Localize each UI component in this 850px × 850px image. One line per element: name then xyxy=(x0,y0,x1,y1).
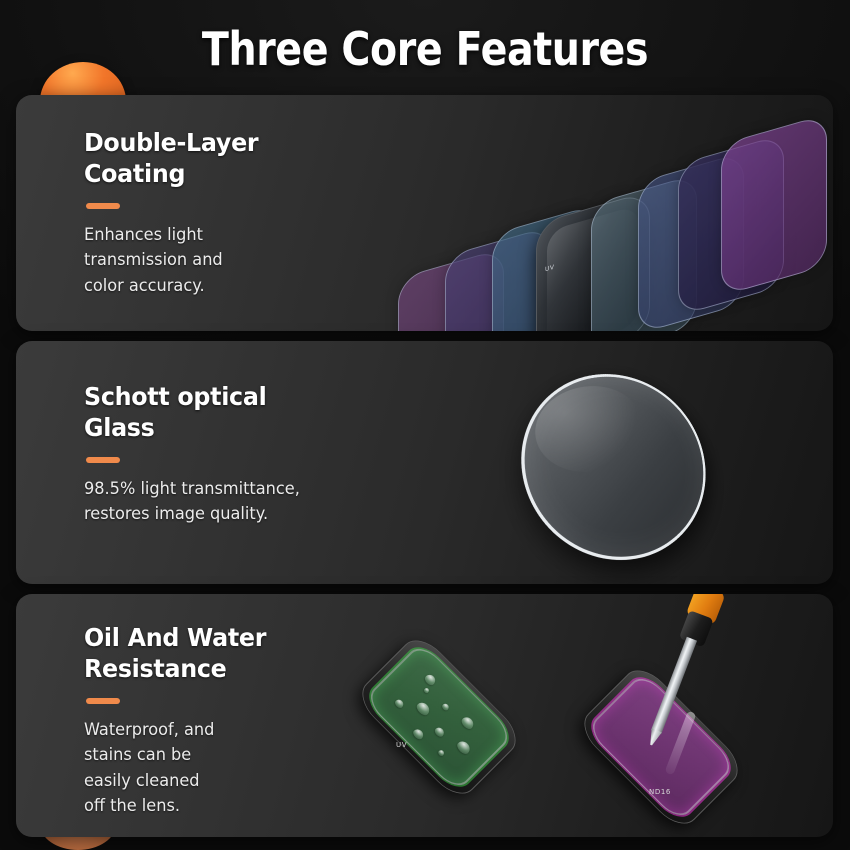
filter-layer-1 xyxy=(398,248,504,331)
water-droplet xyxy=(423,687,430,694)
glass-disc xyxy=(501,344,743,579)
screwdriver-tip xyxy=(646,728,662,747)
filter-layer-2 xyxy=(445,226,551,331)
filter-layer-6 xyxy=(678,134,784,316)
filter-label-uv: UV xyxy=(396,741,407,749)
filter-nd16-purple xyxy=(575,661,747,833)
feature-card-double-layer-coating[interactable]: UV Double-Layer Coating Enhances light t… xyxy=(16,95,833,331)
water-droplet xyxy=(433,726,446,739)
water-droplet xyxy=(441,702,450,711)
card-text-block: Schott optical Glass 98.5% light transmi… xyxy=(84,381,414,528)
card-heading: Oil And Water Resistance xyxy=(84,622,369,685)
card-text-block: Oil And Water Resistance Waterproof, and… xyxy=(84,622,384,820)
filter-label-nd16: ND16 xyxy=(649,788,671,796)
filter-glass-face xyxy=(585,671,736,822)
filter-layer-4 xyxy=(591,174,697,331)
wipe-streak xyxy=(664,711,696,776)
glass-disc-body xyxy=(496,363,730,584)
water-droplet xyxy=(415,700,432,717)
card-heading: Double-Layer Coating xyxy=(84,127,369,190)
water-droplet xyxy=(411,727,425,741)
poster-root: Three Core Features UV Double-Layer Coat… xyxy=(0,0,850,850)
card-body-text: Waterproof, and stains can be easily cle… xyxy=(84,718,369,820)
accent-divider xyxy=(86,203,120,209)
card-body-text: 98.5% light transmittance, restores imag… xyxy=(84,477,398,528)
filter-layer-7 xyxy=(721,114,827,296)
camera-lens-module xyxy=(536,191,650,331)
water-droplet xyxy=(460,715,476,731)
water-droplet xyxy=(455,739,472,756)
card-heading: Schott optical Glass xyxy=(84,381,398,444)
filter-frame xyxy=(575,661,747,833)
lens-module-label: UV xyxy=(545,264,555,274)
glass-disc-highlight xyxy=(523,378,654,487)
filter-layer-5 xyxy=(638,152,744,331)
feature-card-oil-and-water-resistance[interactable]: UV ND16 Oil And Water Resistance Waterpr… xyxy=(16,594,833,837)
accent-divider xyxy=(86,698,120,704)
filter-glass-face xyxy=(363,641,514,792)
screwdriver-collar xyxy=(679,610,714,647)
page-title: Three Core Features xyxy=(60,22,791,76)
screwdriver-shaft xyxy=(651,637,697,734)
card-body-text: Enhances light transmission and color ac… xyxy=(84,223,369,300)
water-droplet xyxy=(423,673,437,687)
accent-divider xyxy=(86,457,120,463)
water-droplet xyxy=(394,698,406,710)
screwdriver-handle xyxy=(686,594,726,626)
feature-card-schott-optical-glass[interactable]: Schott optical Glass 98.5% light transmi… xyxy=(16,341,833,584)
filter-layer-3 xyxy=(492,204,598,331)
card-text-block: Double-Layer Coating Enhances light tran… xyxy=(84,127,384,299)
water-droplet xyxy=(437,749,445,757)
